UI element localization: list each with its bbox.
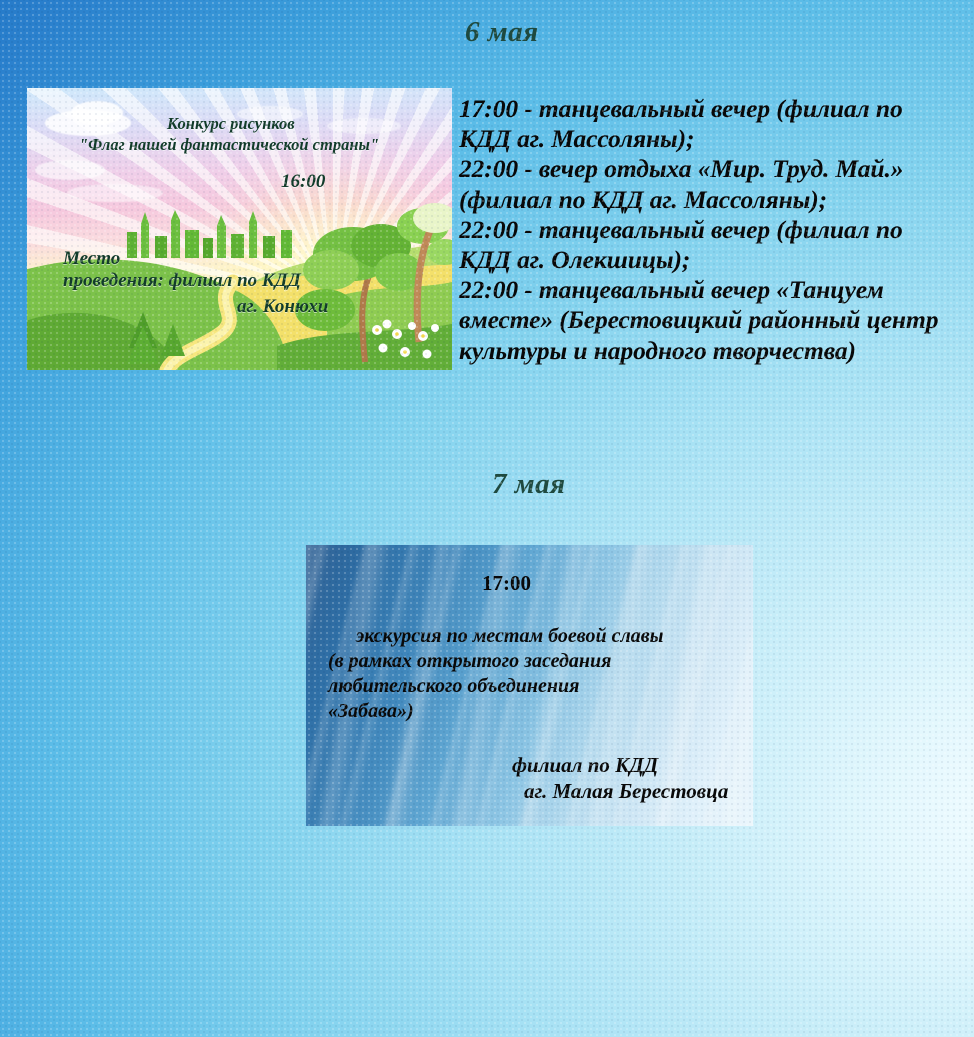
heading-may-7: 7 мая xyxy=(492,468,566,501)
schedule-line: (филиал по КДД аг. Массоляны); xyxy=(459,185,974,215)
cloud-icon xyxy=(35,160,105,180)
schedule-line: культуры и народного творчества) xyxy=(459,336,974,366)
contest-place-line-3: аг. Конюхи xyxy=(237,296,328,318)
conifer-tree-icon xyxy=(123,308,193,370)
schedule-line: КДД аг. Массоляны); xyxy=(459,124,974,154)
cloud-icon xyxy=(71,101,123,125)
cloud-icon xyxy=(67,184,163,202)
schedule-line: КДД аг. Олекшицы); xyxy=(459,245,974,275)
contest-title-line-2: "Флаг нашей фантастической страны" xyxy=(79,135,379,155)
schedule-line: 22:00 - танцевальный вечер (филиал по xyxy=(459,215,974,245)
daisy-flowers-icon xyxy=(357,314,447,368)
excursion-line-3: любительского объединения xyxy=(328,675,579,698)
schedule-text-may-6: 17:00 - танцевальный вечер (филиал поКДД… xyxy=(459,94,974,366)
poster-drawing-contest: Конкурс рисунков "Флаг нашей фантастичес… xyxy=(27,88,452,370)
cloud-icon xyxy=(327,118,401,134)
excursion-line-4: «Забава») xyxy=(328,700,414,723)
contest-title-line-1: Конкурс рисунков xyxy=(167,114,295,134)
excursion-line-1: экскурсия по местам боевой славы xyxy=(356,625,664,648)
heading-may-6: 6 мая xyxy=(465,16,539,49)
excursion-line-2: (в рамках открытого заседания xyxy=(328,650,611,673)
excursion-time: 17:00 xyxy=(482,571,531,596)
contest-place-line-1: Место xyxy=(63,248,120,270)
poster-excursion: 17:00 экскурсия по местам боевой славы (… xyxy=(306,545,753,826)
excursion-venue-line-2: аг. Малая Берестовца xyxy=(524,779,728,804)
schedule-line: 22:00 - вечер отдыха «Мир. Труд. Май.» xyxy=(459,154,974,184)
city-silhouette-icon xyxy=(123,210,298,258)
schedule-line: вместе» (Берестовицкий районный центр xyxy=(459,305,974,335)
contest-place-line-2: проведения: филиал по КДД xyxy=(63,270,301,292)
schedule-line: 17:00 - танцевальный вечер (филиал по xyxy=(459,94,974,124)
slide-canvas: Конкурс рисунков "Флаг нашей фантастичес… xyxy=(0,0,974,1037)
schedule-line: 22:00 - танцевальный вечер «Танцуем xyxy=(459,275,974,305)
excursion-venue-line-1: филиал по КДД xyxy=(512,753,658,778)
contest-time: 16:00 xyxy=(281,171,325,193)
